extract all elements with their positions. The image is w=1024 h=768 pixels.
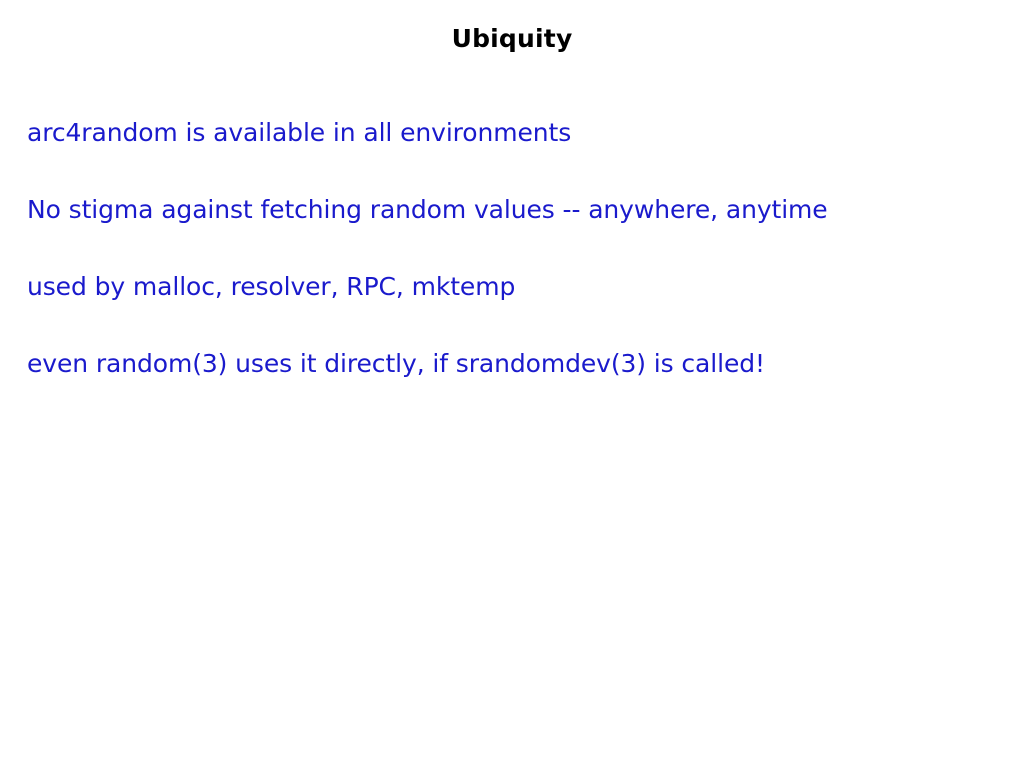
presentation-slide: Ubiquity arc4random is available in all … — [0, 0, 1024, 768]
slide-body: arc4random is available in all environme… — [27, 118, 1002, 379]
slide-title: Ubiquity — [0, 24, 1024, 54]
bullet-line-2: No stigma against fetching random values… — [27, 195, 1002, 225]
bullet-line-1: arc4random is available in all environme… — [27, 118, 1002, 148]
bullet-line-4: even random(3) uses it directly, if sran… — [27, 349, 1002, 379]
bullet-line-3: used by malloc, resolver, RPC, mktemp — [27, 272, 1002, 302]
